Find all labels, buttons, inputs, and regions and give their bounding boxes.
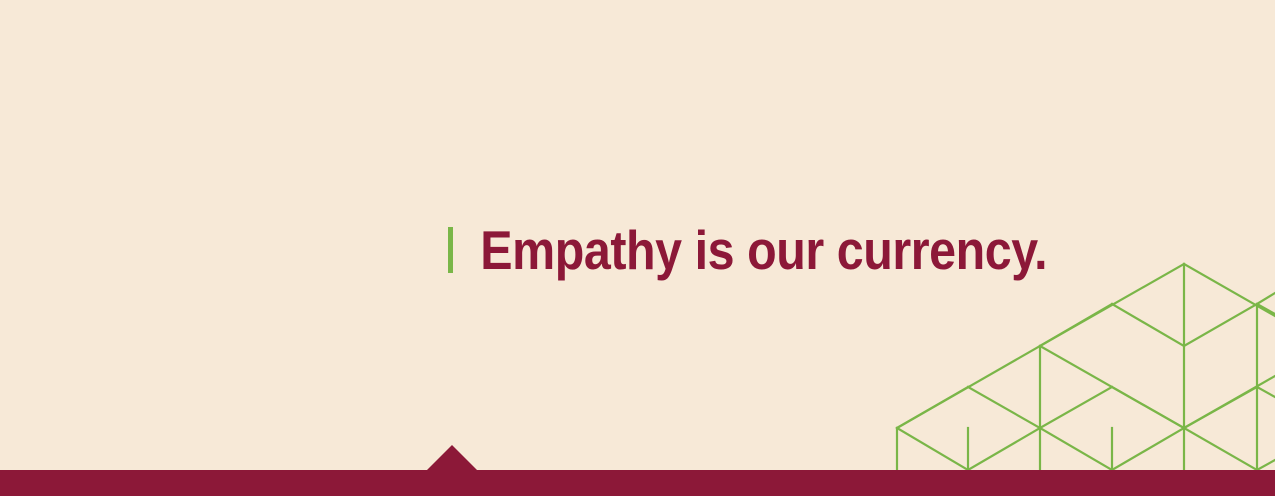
band-peak-notch: [427, 445, 477, 470]
promo-banner: Empathy is our currency.: [0, 0, 1275, 496]
page-title: Empathy is our currency.: [453, 222, 1047, 278]
headline-block: Empathy is our currency.: [448, 222, 1128, 278]
bottom-band: [0, 470, 1275, 496]
